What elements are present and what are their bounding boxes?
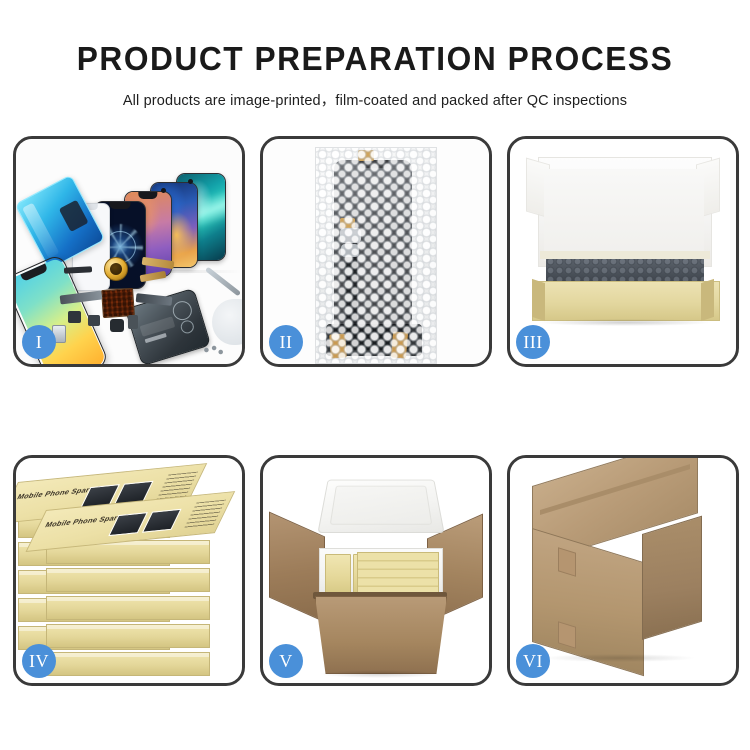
step-badge-2: II — [269, 325, 303, 359]
foam-lid-inner — [330, 486, 433, 525]
box-window-front-2 — [142, 509, 182, 533]
carton-side-face — [642, 516, 702, 640]
product-preparation-infographic: PRODUCT PREPARATION PROCESS All products… — [0, 0, 750, 750]
bubble-texture — [316, 148, 436, 363]
carton-tape-upper — [558, 547, 576, 577]
box-inner-surface — [544, 169, 704, 261]
part-chip-3 — [110, 319, 124, 332]
step-badge-5: V — [269, 644, 303, 678]
process-step-6: VI — [507, 455, 739, 686]
box-tray-side-left — [532, 279, 545, 321]
box-shadow — [540, 319, 710, 326]
step-badge-4: IV — [22, 644, 56, 678]
bubble-wrap-bag — [315, 147, 437, 364]
process-step-1: I — [13, 136, 245, 367]
part-chip-1 — [68, 311, 81, 323]
process-step-4: Mobile Phone Spare Parts Mobile Phone Sp… — [13, 455, 245, 686]
page-subtitle: All products are image-printed，film-coat… — [0, 75, 750, 110]
carton-shadow — [319, 670, 441, 678]
stacked-box-front-3 — [46, 596, 210, 620]
process-step-2: II — [260, 136, 492, 367]
screws-group — [202, 345, 224, 355]
part-chip-2 — [88, 315, 100, 326]
circuit-board-component — [101, 288, 135, 318]
page-title: PRODUCT PREPARATION PROCESS — [15, 0, 735, 75]
stacked-box-front-2 — [46, 568, 210, 592]
process-step-grid: I I — [13, 136, 739, 686]
header: PRODUCT PREPARATION PROCESS All products… — [0, 0, 750, 110]
step-badge-3: III — [516, 325, 550, 359]
process-step-5: V — [260, 455, 492, 686]
step-badge-6: VI — [516, 644, 550, 678]
box-tray-yellow — [532, 281, 720, 321]
carton-shadow — [544, 654, 694, 662]
part-chip-4 — [128, 315, 138, 329]
carton-body — [315, 596, 447, 674]
stacked-box-front-4 — [46, 624, 210, 648]
process-step-3: III — [507, 136, 739, 367]
box-tray-rim — [540, 251, 710, 259]
box-tray-side-right — [701, 279, 714, 321]
step-badge-1: I — [22, 325, 56, 359]
speaker-component — [104, 257, 128, 281]
stacked-box-front-5 — [46, 652, 210, 676]
